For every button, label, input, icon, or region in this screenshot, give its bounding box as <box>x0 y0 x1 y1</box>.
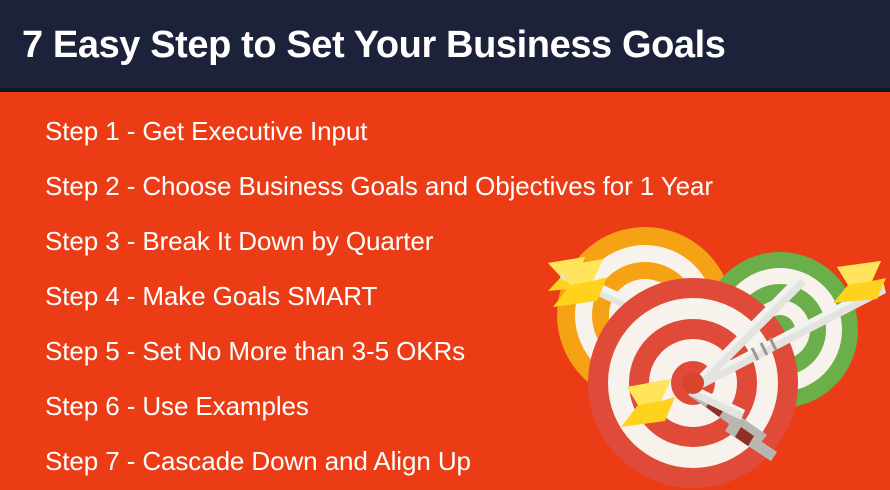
red-bullseye-core-icon <box>682 372 704 394</box>
infographic-poster: 7 Easy Step to Set Your Business Goals S… <box>0 0 890 490</box>
page-title: 7 Easy Step to Set Your Business Goals <box>22 22 872 68</box>
header-divider <box>0 88 890 92</box>
list-item: Step 1 - Get Executive Input <box>45 104 875 159</box>
targets-illustration <box>545 205 890 490</box>
